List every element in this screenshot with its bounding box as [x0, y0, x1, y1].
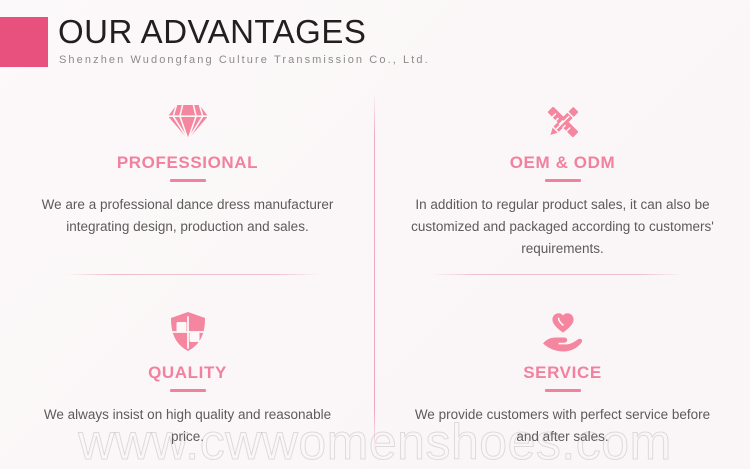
advantages-banner: OUR ADVANTAGES Shenzhen Wudongfang Cultu… — [0, 0, 750, 469]
title-underline — [545, 179, 581, 182]
feature-card-service: SERVICE We provide customers with perfec… — [375, 294, 750, 448]
feature-title: PROFESSIONAL — [0, 152, 375, 174]
pencil-ruler-icon — [375, 98, 750, 146]
title-underline — [170, 389, 206, 392]
horizontal-divider-right — [430, 274, 684, 275]
company-subtitle: Shenzhen Wudongfang Culture Transmission… — [59, 52, 430, 68]
title-underline — [170, 179, 206, 182]
feature-body: We always insist on high quality and rea… — [38, 404, 338, 448]
hand-heart-icon — [375, 308, 750, 356]
feature-body: We provide customers with perfect servic… — [408, 404, 718, 448]
horizontal-divider-left — [66, 274, 320, 275]
feature-body: We are a professional dance dress manufa… — [38, 194, 338, 238]
feature-card-quality: QUALITY We always insist on high quality… — [0, 294, 375, 448]
feature-title: OEM & ODM — [375, 152, 750, 174]
feature-body: In addition to regular product sales, it… — [408, 194, 718, 260]
feature-title: QUALITY — [0, 362, 375, 384]
feature-card-oem-odm: OEM & ODM In addition to regular product… — [375, 84, 750, 260]
header: OUR ADVANTAGES Shenzhen Wudongfang Cultu… — [0, 0, 750, 84]
header-accent-block — [0, 17, 48, 67]
diamond-icon — [0, 98, 375, 146]
shield-check-icon — [0, 308, 375, 356]
feature-card-professional: PROFESSIONAL We are a professional dance… — [0, 84, 375, 238]
feature-title: SERVICE — [375, 362, 750, 384]
page-title: OUR ADVANTAGES — [58, 12, 366, 52]
title-underline — [545, 389, 581, 392]
features-grid: PROFESSIONAL We are a professional dance… — [0, 84, 750, 469]
